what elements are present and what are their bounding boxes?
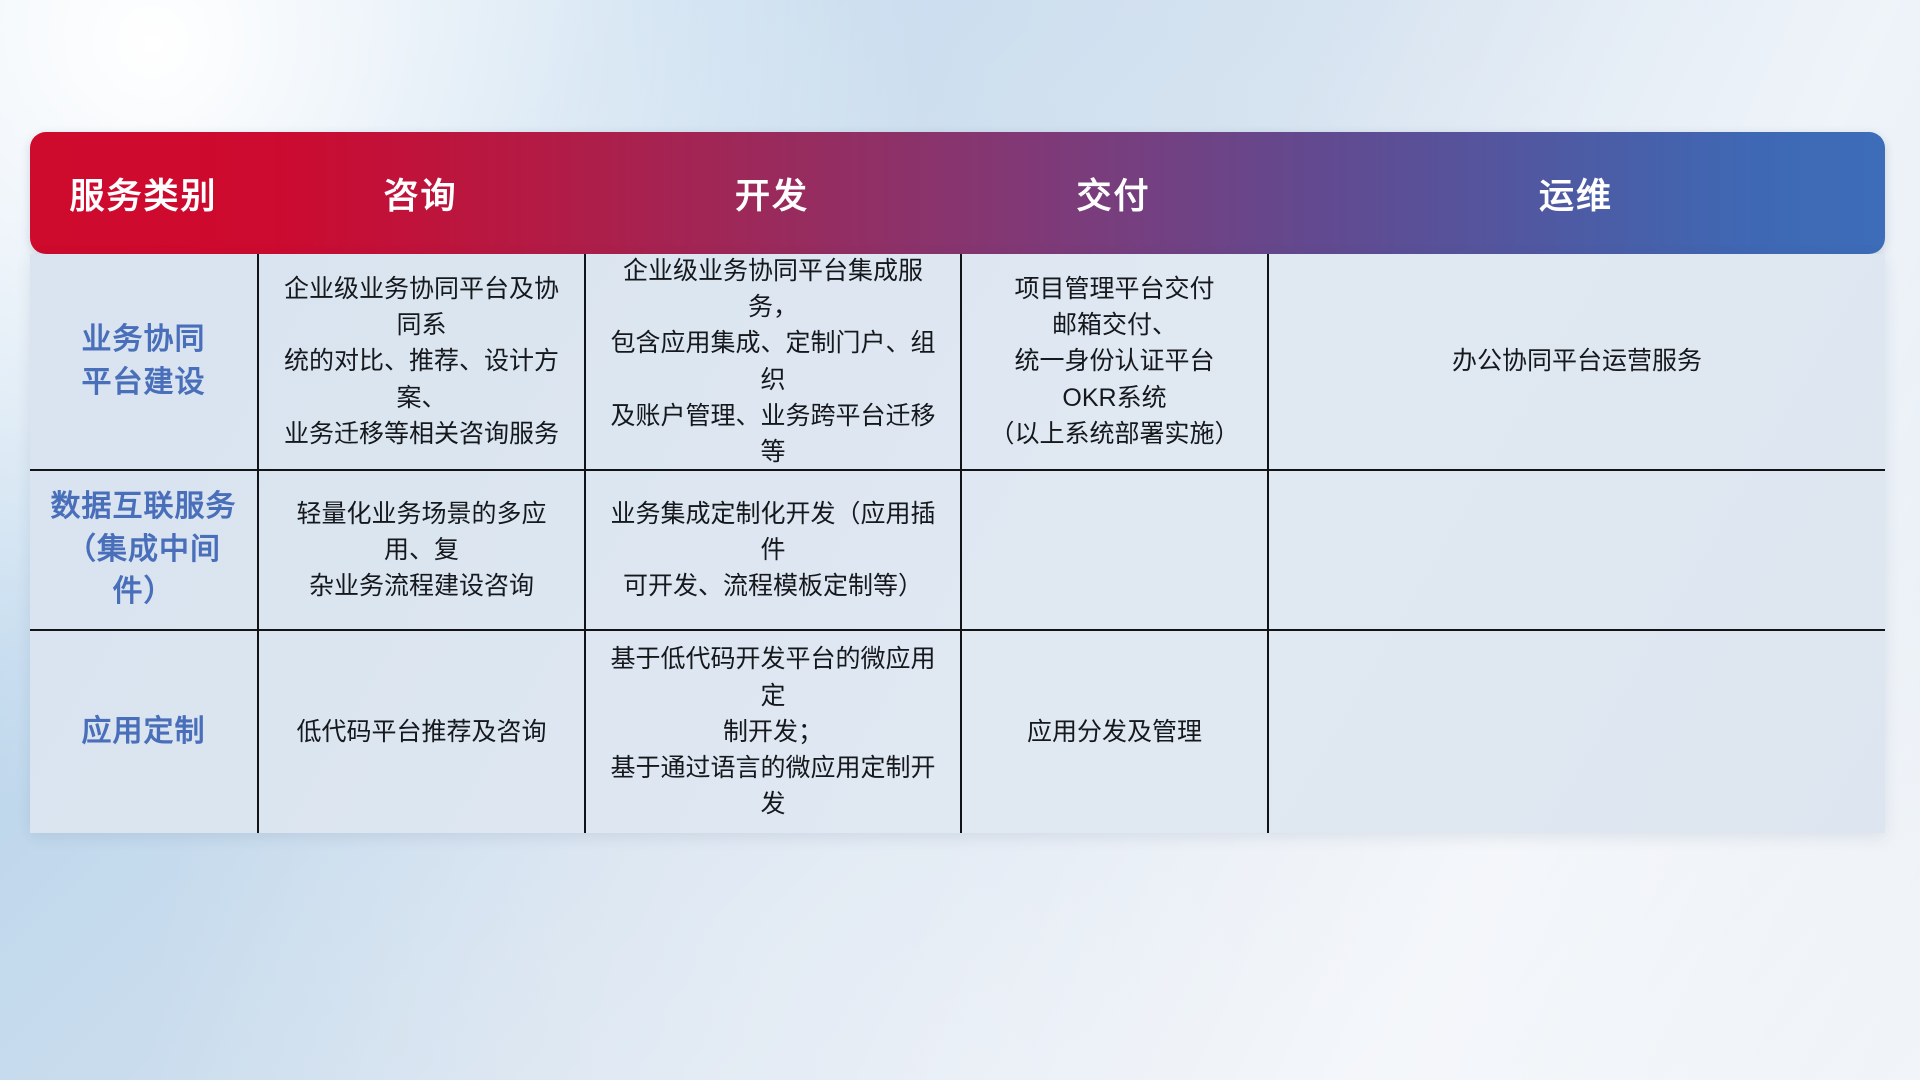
cell-delivery-row3: 应用分发及管理 [960, 631, 1267, 833]
cell-operations-row1: 办公协同平台运营服务 [1267, 254, 1885, 469]
column-header-consulting: 咨询 [257, 132, 584, 254]
table-row: 应用定制 低代码平台推荐及咨询 基于低代码开发平台的微应用定 制开发； 基于通过… [30, 629, 1885, 833]
cell-delivery-row1: 项目管理平台交付 邮箱交付、 统一身份认证平台 OKR系统 （以上系统部署实施） [960, 254, 1267, 469]
table-row: 数据互联服务 （集成中间件） 轻量化业务场景的多应用、复 杂业务流程建设咨询 业… [30, 469, 1885, 629]
cell-consulting-row1: 企业级业务协同平台及协同系 统的对比、推荐、设计方案、 业务迁移等相关咨询服务 [257, 254, 584, 469]
service-matrix-table: 服务类别 咨询 开发 交付 运维 业务协同 平台建设 企业级业务协同平台及协同系… [30, 132, 1885, 833]
cell-development-row3: 基于低代码开发平台的微应用定 制开发； 基于通过语言的微应用定制开发 [584, 631, 960, 833]
cell-delivery-row2 [960, 471, 1267, 629]
row-label-data-interconnection: 数据互联服务 （集成中间件） [30, 471, 257, 629]
column-header-delivery: 交付 [960, 132, 1267, 254]
table-header-row: 服务类别 咨询 开发 交付 运维 [30, 132, 1885, 254]
cell-consulting-row3: 低代码平台推荐及咨询 [257, 631, 584, 833]
cell-operations-row2 [1267, 471, 1885, 629]
cell-development-row2: 业务集成定制化开发（应用插件 可开发、流程模板定制等） [584, 471, 960, 629]
cell-development-row1: 企业级业务协同平台集成服务， 包含应用集成、定制门户、组织 及账户管理、业务跨平… [584, 254, 960, 469]
column-header-development: 开发 [584, 132, 960, 254]
row-label-application-customization: 应用定制 [30, 631, 257, 833]
cell-operations-row3 [1267, 631, 1885, 833]
cell-consulting-row2: 轻量化业务场景的多应用、复 杂业务流程建设咨询 [257, 471, 584, 629]
column-header-category: 服务类别 [30, 132, 257, 254]
table-row: 业务协同 平台建设 企业级业务协同平台及协同系 统的对比、推荐、设计方案、 业务… [30, 254, 1885, 469]
column-header-operations: 运维 [1267, 132, 1885, 254]
slide-canvas: 服务类别 咨询 开发 交付 运维 业务协同 平台建设 企业级业务协同平台及协同系… [0, 0, 1920, 1080]
table-body: 业务协同 平台建设 企业级业务协同平台及协同系 统的对比、推荐、设计方案、 业务… [30, 254, 1885, 833]
row-label-business-collaboration: 业务协同 平台建设 [30, 254, 257, 469]
